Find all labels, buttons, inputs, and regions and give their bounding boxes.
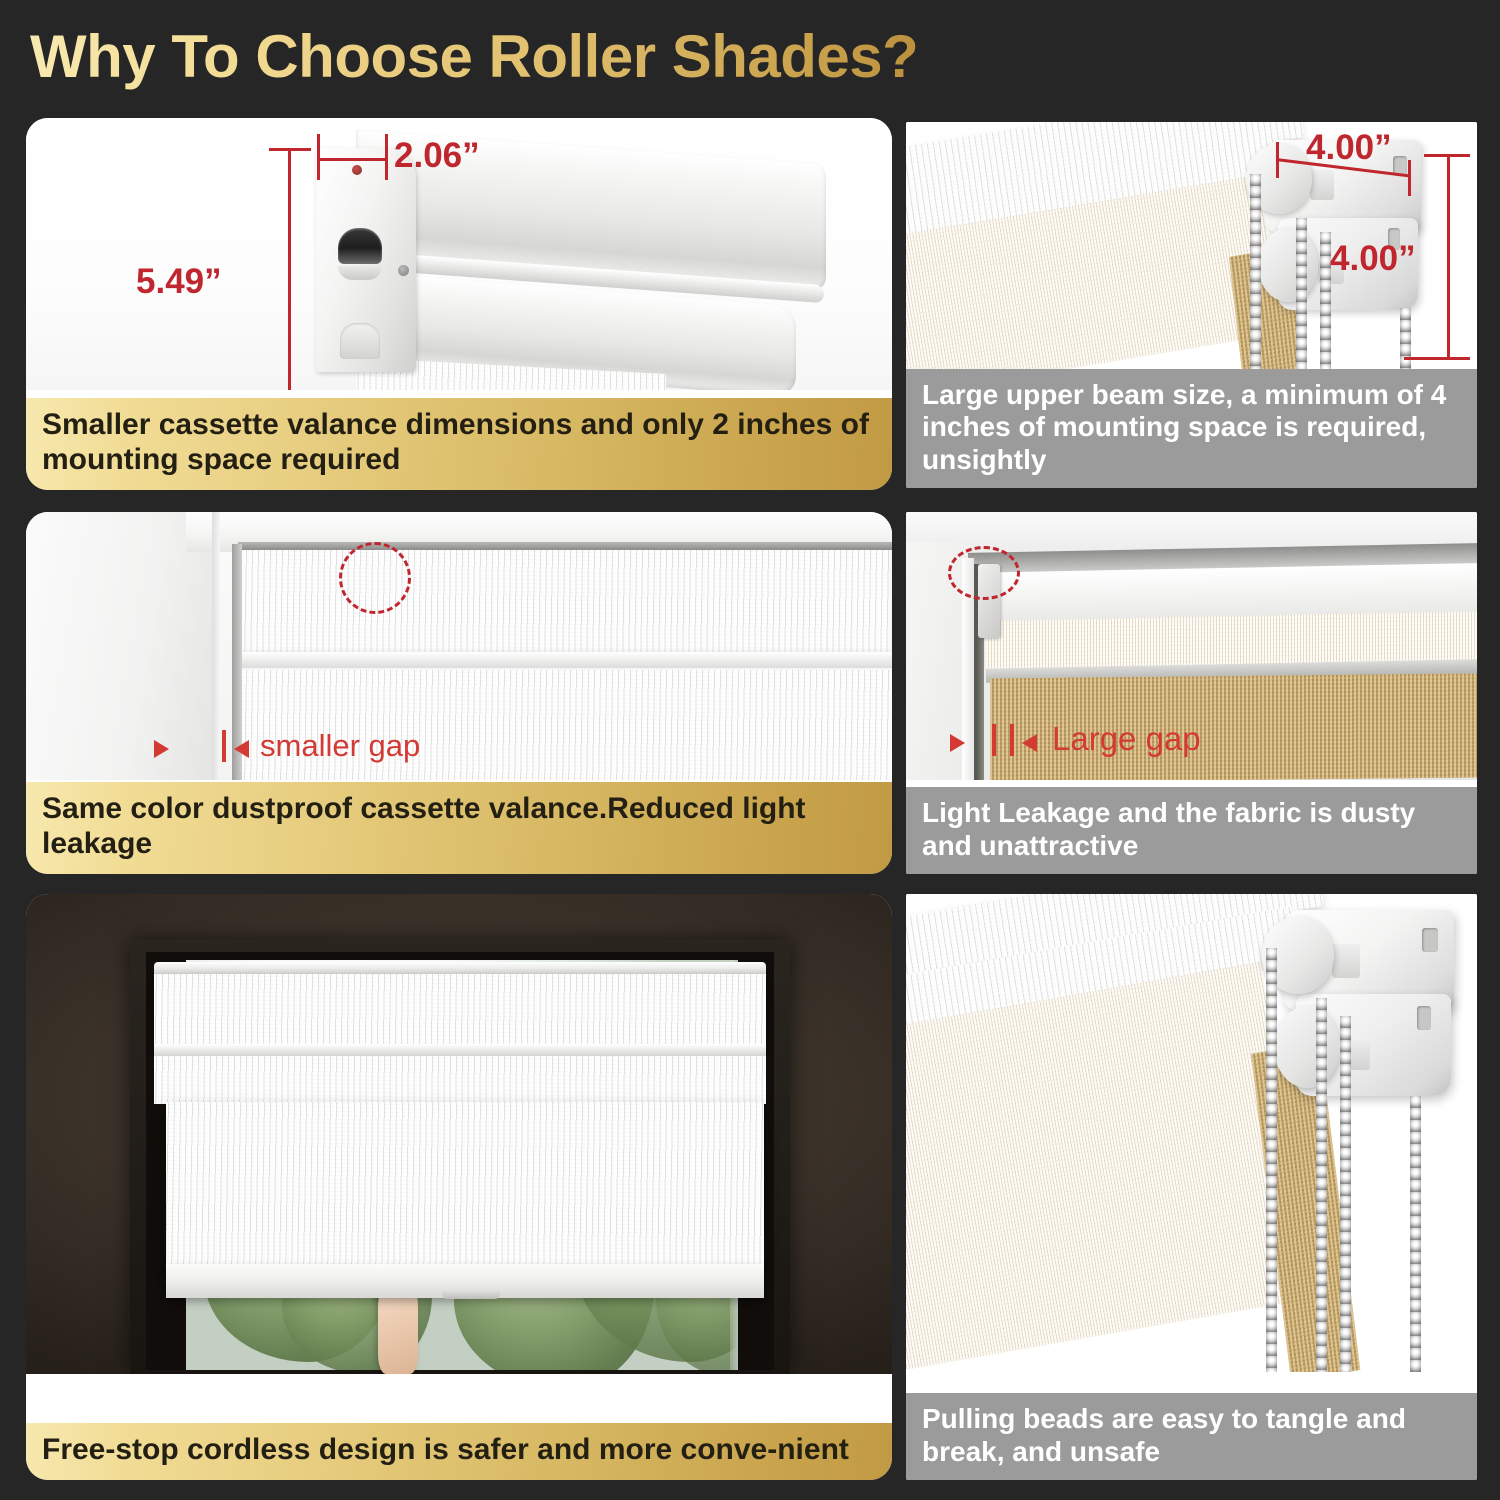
panel-3-caption: Same color dustproof cassette valance.Re… <box>26 782 892 874</box>
bead-chain-1 <box>1266 948 1277 1372</box>
panel-1-caption: Smaller cassette valance dimensions and … <box>26 398 892 490</box>
cassette-face <box>238 550 892 654</box>
highlight-circle-icon <box>948 546 1020 600</box>
panel-light-leakage: Large gap Light Leakage and the fabric i… <box>906 512 1477 874</box>
clutch-wheel-lower <box>1274 1006 1340 1088</box>
large-bracket-roller-illustration: 4.00” 4.00” <box>906 122 1477 388</box>
panel-2-photo: 4.00” 4.00” <box>906 122 1477 388</box>
dim-5-49-bar <box>288 148 291 390</box>
dim-height-bottom-tick <box>1404 357 1470 360</box>
clutch-opening <box>338 228 382 264</box>
gap-arrow-left-icon <box>1022 734 1037 752</box>
panel-5-photo <box>26 894 892 1374</box>
panel-2-caption: Large upper beam size, a minimum of 4 in… <box>906 369 1477 488</box>
panel-6-photo <box>906 894 1477 1372</box>
bead-chain-1 <box>1250 174 1261 388</box>
bead-chain-2 <box>1296 218 1307 388</box>
cassette-top-edge <box>238 542 892 550</box>
bead-chain-roller-illustration <box>906 894 1477 1372</box>
valance-roll <box>154 1056 766 1104</box>
dim-2-06-left-tick <box>317 134 320 180</box>
dim-height-label: 4.00” <box>1330 239 1416 279</box>
dim-2-06-right-tick <box>385 134 388 180</box>
smaller-gap-label: smaller gap <box>260 728 420 764</box>
panel-4-caption: Light Leakage and the fabric is dusty an… <box>906 787 1477 874</box>
clutch-wheel-lower <box>1258 228 1318 302</box>
room-window-shade-illustration <box>26 894 892 1374</box>
dim-2-06-label: 2.06” <box>394 136 480 176</box>
tan-roller-gap-illustration: Large gap <box>906 512 1477 780</box>
panel-4-photo: Large gap <box>906 512 1477 780</box>
cassette-lip <box>238 652 892 668</box>
valance-face <box>154 974 766 1046</box>
gap-tick-1 <box>992 724 996 756</box>
panel-smaller-cassette-valance: 2.06” 5.49” Smaller cassette valance dim… <box>26 118 892 490</box>
gap-tick-1 <box>222 730 226 762</box>
gap-arrow-right-icon <box>950 734 965 752</box>
bead-chain-3 <box>1340 1016 1351 1372</box>
panel-3-photo: smaller gap <box>26 512 892 780</box>
dim-width-label: 4.00” <box>1306 128 1392 168</box>
panel-6-caption: Pulling beads are easy to tangle and bre… <box>906 1393 1477 1480</box>
panel-large-upper-beam: 4.00” 4.00” Large upper beam size, a min… <box>906 122 1477 488</box>
panel-1-photo: 2.06” 5.49” <box>26 118 892 390</box>
large-gap-label: Large gap <box>1052 720 1201 758</box>
jamb-edge <box>212 512 220 780</box>
cassette-valance-illustration: 2.06” 5.49” <box>26 118 892 390</box>
panel-dustproof-cassette-valance: smaller gap Same color dustproof cassett… <box>26 512 892 874</box>
bead-chain-2 <box>1316 998 1327 1372</box>
dim-width-right-tick <box>1408 160 1411 196</box>
valance-top-cap <box>154 962 766 974</box>
rail-handle <box>442 1290 500 1299</box>
gap-arrow-right-icon <box>154 740 169 758</box>
page-title: Why To Choose Roller Shades? <box>30 22 918 91</box>
panel-free-stop-cordless: Free-stop cordless design is safer and m… <box>26 894 892 1480</box>
panel-5-caption: Free-stop cordless design is safer and m… <box>26 1423 892 1480</box>
highlight-circle-icon <box>339 542 411 614</box>
dim-5-49-label: 5.49” <box>136 262 222 302</box>
dim-height-bar <box>1447 154 1450 360</box>
cassette-in-window-frame-illustration: smaller gap <box>26 512 892 780</box>
gap-arrow-left-icon <box>234 740 249 758</box>
screw-head <box>398 265 409 276</box>
dim-height-top-tick <box>1424 154 1470 157</box>
shade-fabric <box>166 1102 764 1268</box>
screw-head-red <box>352 165 362 175</box>
clutch-base <box>338 266 382 280</box>
dim-5-49-top-tick <box>269 148 311 151</box>
bead-chain-4 <box>1410 1096 1421 1372</box>
bottom-bracket <box>340 323 380 359</box>
gap-tick-2 <box>1010 724 1014 756</box>
valance-end-cap <box>316 148 416 372</box>
dim-2-06-bar <box>317 158 388 161</box>
panel-pulling-beads: Pulling beads are easy to tangle and bre… <box>906 894 1477 1480</box>
window-jamb <box>26 512 216 780</box>
